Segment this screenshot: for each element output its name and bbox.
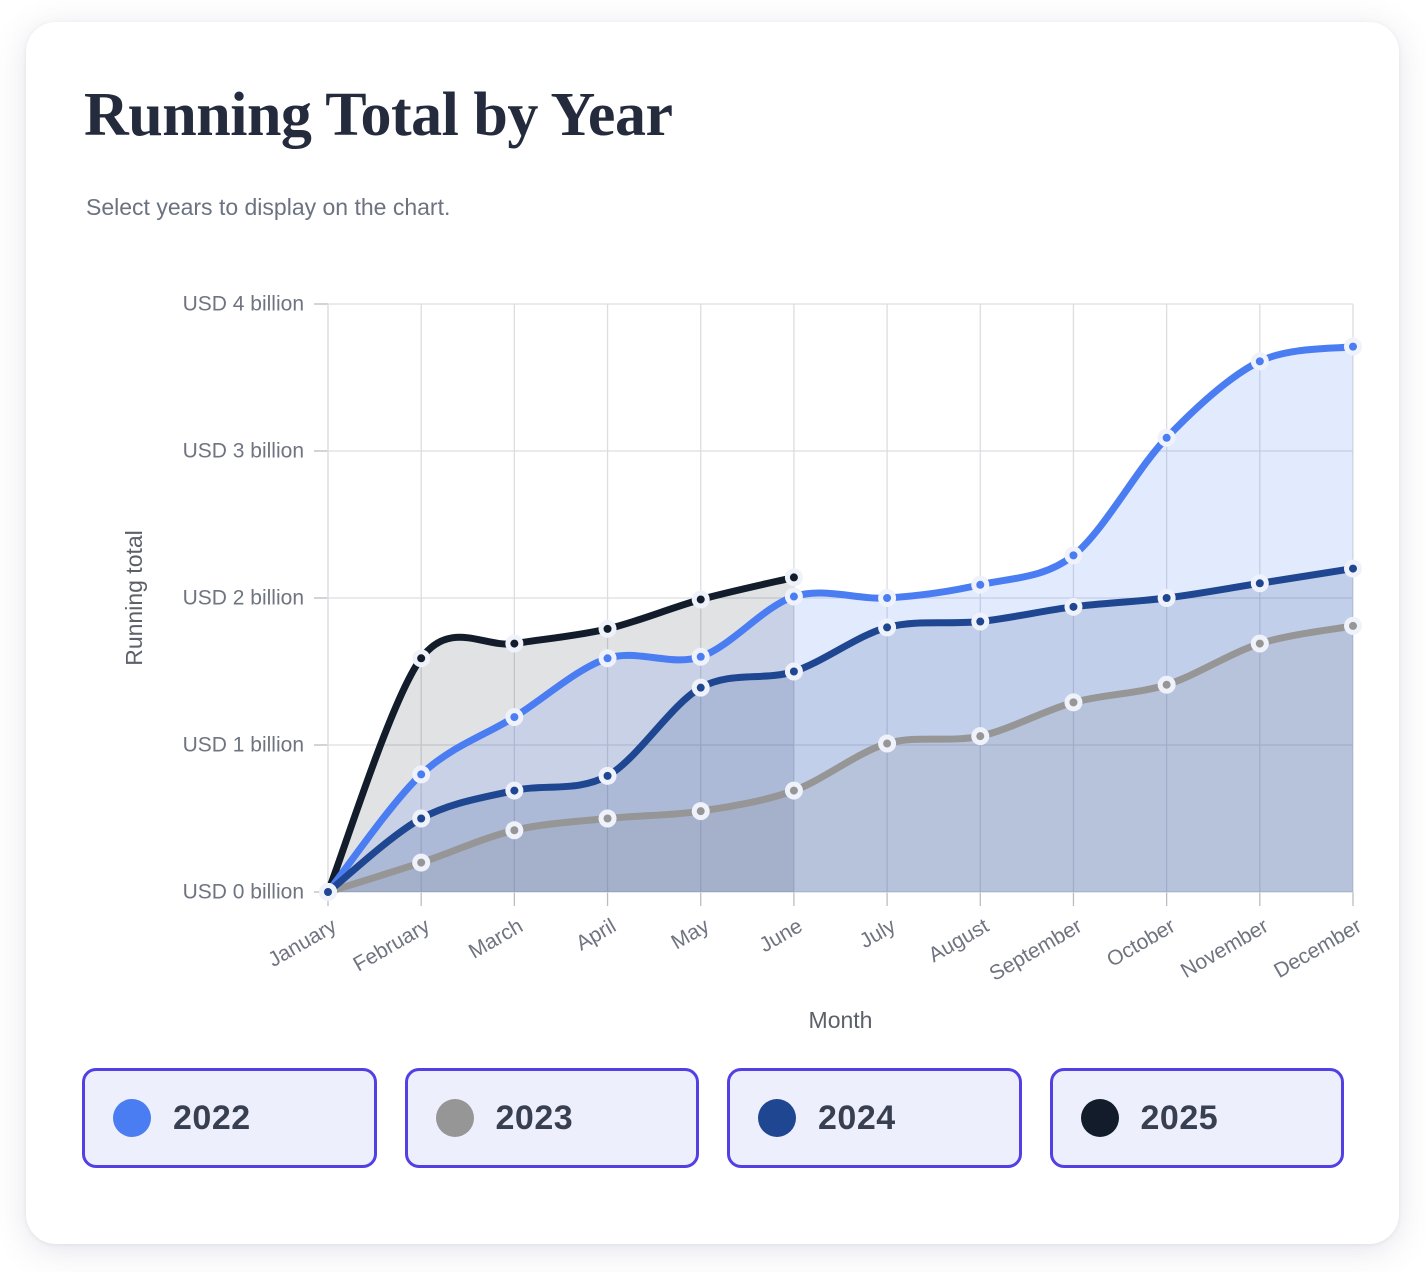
- year-legend-toggles: 2022 2023 2024 2025: [82, 1068, 1344, 1168]
- data-point-2024-June[interactable]: [790, 668, 798, 676]
- data-point-2022-June[interactable]: [790, 593, 798, 601]
- chart-card: Running Total by Year Select years to di…: [26, 22, 1399, 1244]
- chart-plot-area: USD 0 billionUSD 1 billionUSD 2 billionU…: [26, 22, 1399, 1244]
- legend-toggle-2022[interactable]: 2022: [82, 1068, 377, 1168]
- x-axis-tick-label: August: [925, 914, 993, 967]
- data-point-2023-July[interactable]: [883, 740, 891, 748]
- legend-toggle-2025[interactable]: 2025: [1050, 1068, 1345, 1168]
- x-axis-tick-label: June: [755, 914, 806, 957]
- running-total-line-chart: USD 0 billionUSD 1 billionUSD 2 billionU…: [26, 22, 1399, 1052]
- data-point-2024-May[interactable]: [697, 684, 705, 692]
- data-point-2022-July[interactable]: [883, 594, 891, 602]
- x-axis-tick-label: April: [572, 914, 620, 955]
- data-point-2024-November[interactable]: [1256, 579, 1264, 587]
- data-point-2023-April[interactable]: [604, 815, 612, 823]
- x-axis-tick-label: May: [667, 914, 713, 954]
- data-point-2022-September[interactable]: [1069, 551, 1077, 559]
- y-axis-tick-label: USD 2 billion: [183, 587, 304, 610]
- data-point-2024-August[interactable]: [976, 618, 984, 626]
- data-point-2024-July[interactable]: [883, 623, 891, 631]
- legend-toggle-2023[interactable]: 2023: [405, 1068, 700, 1168]
- data-point-2025-February[interactable]: [417, 654, 425, 662]
- y-axis-title: Running total: [121, 530, 147, 666]
- data-point-2025-May[interactable]: [697, 595, 705, 603]
- data-point-2022-May[interactable]: [697, 653, 705, 661]
- data-point-2024-October[interactable]: [1163, 594, 1171, 602]
- data-point-2024-December[interactable]: [1349, 565, 1357, 573]
- x-axis-tick-label: February: [349, 914, 434, 976]
- legend-label-2022: 2022: [173, 1099, 251, 1138]
- legend-toggle-2024[interactable]: 2024: [727, 1068, 1022, 1168]
- data-point-2022-August[interactable]: [976, 581, 984, 589]
- data-point-2024-March[interactable]: [510, 787, 518, 795]
- x-axis-tick-label: March: [465, 914, 527, 963]
- data-point-2023-May[interactable]: [697, 807, 705, 815]
- data-point-2022-December[interactable]: [1349, 343, 1357, 351]
- data-point-2024-April[interactable]: [604, 772, 612, 780]
- data-point-2024-February[interactable]: [417, 815, 425, 823]
- x-axis-tick-label: October: [1103, 914, 1179, 971]
- data-point-2023-February[interactable]: [417, 859, 425, 867]
- data-point-2022-March[interactable]: [510, 713, 518, 721]
- legend-color-dot-2023: [436, 1099, 474, 1137]
- data-point-2024-January[interactable]: [324, 888, 332, 896]
- data-point-2023-August[interactable]: [976, 732, 984, 740]
- x-axis-title: Month: [809, 1007, 873, 1033]
- data-point-2023-November[interactable]: [1256, 640, 1264, 648]
- legend-label-2023: 2023: [496, 1099, 574, 1138]
- data-point-2022-October[interactable]: [1163, 434, 1171, 442]
- data-point-2024-September[interactable]: [1069, 603, 1077, 611]
- legend-color-dot-2025: [1081, 1099, 1119, 1137]
- data-point-2023-March[interactable]: [510, 826, 518, 834]
- data-point-2022-April[interactable]: [604, 654, 612, 662]
- y-axis-tick-label: USD 3 billion: [183, 440, 304, 463]
- x-axis-tick-label: December: [1270, 914, 1365, 982]
- legend-label-2025: 2025: [1141, 1099, 1219, 1138]
- data-point-2025-June[interactable]: [790, 573, 798, 581]
- data-point-2022-November[interactable]: [1256, 357, 1264, 365]
- x-axis-tick-label: July: [856, 914, 900, 953]
- data-point-2022-February[interactable]: [417, 770, 425, 778]
- legend-label-2024: 2024: [818, 1099, 896, 1138]
- y-axis-tick-label: USD 0 billion: [183, 881, 304, 904]
- data-point-2023-October[interactable]: [1163, 681, 1171, 689]
- x-axis-tick-label: January: [264, 914, 341, 972]
- x-axis-tick-label: September: [985, 914, 1085, 985]
- legend-color-dot-2024: [758, 1099, 796, 1137]
- data-point-2025-April[interactable]: [604, 625, 612, 633]
- data-point-2023-December[interactable]: [1349, 622, 1357, 630]
- y-axis-tick-label: USD 1 billion: [183, 734, 304, 757]
- data-point-2025-March[interactable]: [510, 640, 518, 648]
- legend-color-dot-2022: [113, 1099, 151, 1137]
- data-point-2023-June[interactable]: [790, 787, 798, 795]
- data-point-2023-September[interactable]: [1069, 698, 1077, 706]
- y-axis-tick-label: USD 4 billion: [183, 293, 304, 316]
- x-axis-tick-label: November: [1177, 914, 1272, 982]
